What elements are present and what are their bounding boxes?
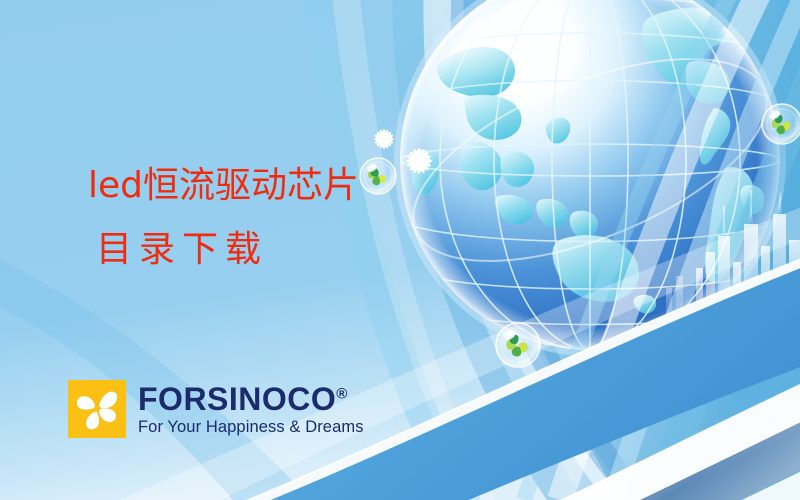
brand-logo-lockup: FORSINOCO® For Your Happiness & Dreams [68,380,364,438]
logo-text-block: FORSINOCO® For Your Happiness & Dreams [138,380,364,438]
bubble-with-pinwheel [496,323,540,367]
bubble-with-pinwheel [762,104,800,144]
logo-tagline: For Your Happiness & Dreams [138,419,364,436]
four-petal-pinwheel-icon [68,380,126,438]
logo-wordmark: FORSINOCO® [138,383,364,415]
logo-wordmark-text: FORSINOCO [138,381,336,417]
flower-sparkle [406,148,432,174]
registered-trademark-symbol: ® [336,385,348,402]
pinwheel-logo-mark [68,380,126,438]
promo-banner: led恒流驱动芯片 目录下载 FORSINOCO® For Your Happi… [0,0,800,500]
bubble-with-pinwheel [360,158,396,194]
